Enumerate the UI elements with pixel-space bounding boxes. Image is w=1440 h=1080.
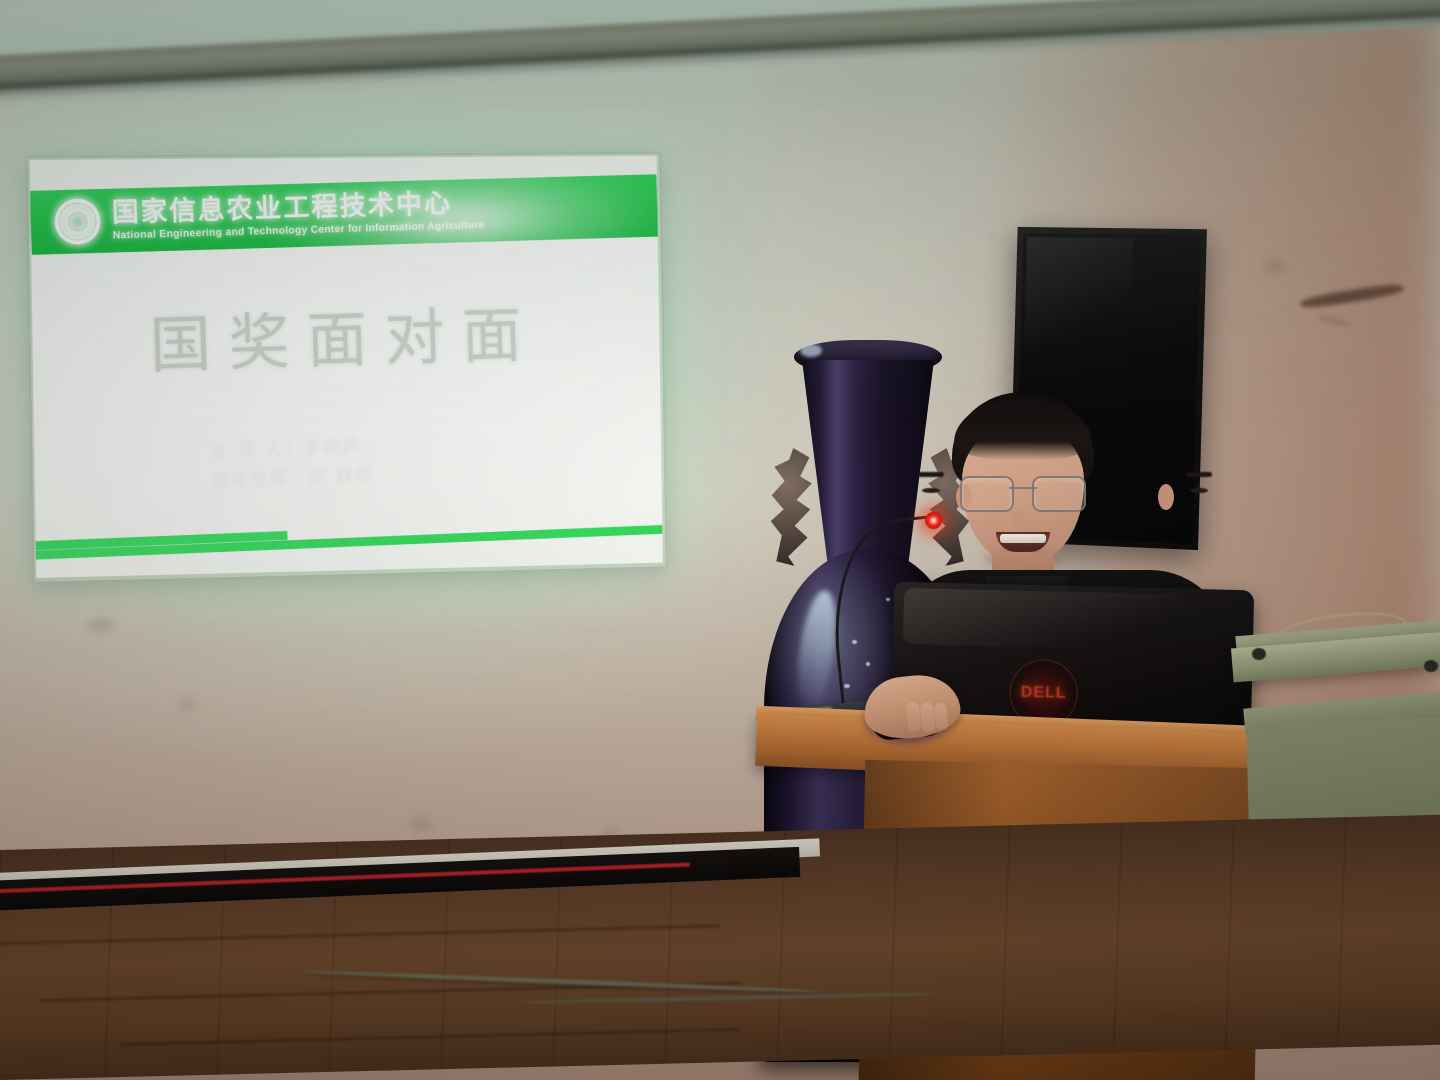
wall-mark: [410, 820, 432, 829]
monitor-gloss: [1024, 237, 1133, 355]
glasses-bridge: [1009, 487, 1037, 489]
slide-subtitle-block: 主 讲 人：李桂民 指导老师：陈 教授: [210, 431, 376, 496]
glasses-lens-right: [1032, 476, 1086, 512]
wall-mark: [88, 620, 114, 630]
projected-slide: 国家信息农业工程技术中心 National Engineering and Te…: [30, 156, 663, 578]
institution-seal-logo-icon: [54, 198, 101, 245]
finger: [920, 702, 936, 733]
presenter-teeth: [1000, 534, 1046, 543]
presenter-eye-left: [922, 488, 940, 493]
glasses-lens-left: [960, 476, 1014, 512]
presenter-fringe: [954, 398, 1092, 460]
floor-plank-seam: [0, 924, 720, 945]
finger: [906, 701, 922, 732]
cable-clip: [1252, 648, 1266, 660]
presenter-brow-left: [918, 472, 944, 477]
wall-mark: [178, 700, 196, 708]
vase-mouth-highlight: [800, 344, 822, 357]
presenter-ear-right: [1158, 484, 1174, 510]
laptop-gloss: [903, 588, 1185, 651]
wall-mark: [1268, 262, 1284, 270]
floor-plank-seam: [120, 1028, 740, 1046]
vase-handle-left: [768, 448, 814, 566]
glasses-icon: [956, 476, 1090, 510]
finger: [934, 702, 949, 730]
dell-wordmark: DELL: [1021, 684, 1067, 703]
slide-subtitle-line-2: 指导老师：陈 教授: [211, 461, 376, 496]
presenter-nose: [1012, 510, 1030, 528]
presenter-eye-right: [1190, 488, 1208, 493]
cable-clip: [1424, 660, 1438, 672]
slide-header-band: 国家信息农业工程技术中心 National Engineering and Te…: [30, 174, 659, 255]
photo-scene: 国家信息农业工程技术中心 National Engineering and Te…: [0, 0, 1440, 1080]
presenter-brow-right: [1186, 472, 1212, 477]
slide-main-title: 国奖面对面: [148, 285, 539, 385]
seal-ring: [58, 202, 97, 241]
